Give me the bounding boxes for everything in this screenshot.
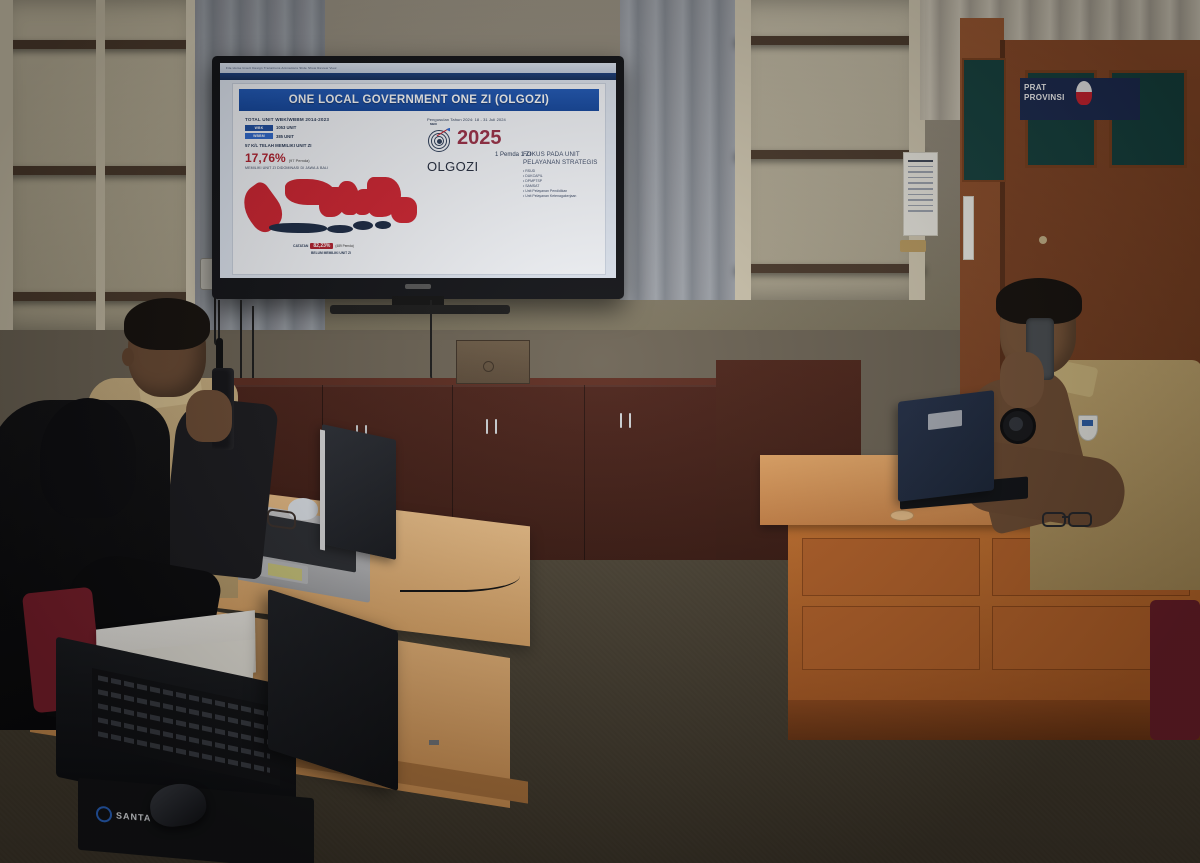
right-desk-base xyxy=(788,700,1200,740)
slide-canvas: ONE LOCAL GOVERNMENT ONE ZI (OLGOZI) TOT… xyxy=(232,83,606,275)
cardboard-box xyxy=(456,340,530,384)
mousepad-brand-text: SANTA xyxy=(116,810,151,823)
tv-stand-base xyxy=(330,305,510,314)
toolbar-menu-text: File Home Insert Design Transitions Anim… xyxy=(220,63,616,70)
target-year-row: MBO 2025 xyxy=(427,125,599,151)
total-unit-label: TOTAL UNIT WBK/WBBM 2014-2023 xyxy=(245,117,423,122)
mbo-tag: MBO xyxy=(430,122,437,126)
kl-label: 57 K/L TELAH MEMILIKI UNIT ZI xyxy=(245,143,423,148)
slide-right-column: Pengusulan Tahun 2024: 18 - 31 Juli 2024… xyxy=(427,117,599,174)
focus-block: FOKUS PADA UNIT PELAYANAN STRATEGIS RSUD… xyxy=(523,151,601,199)
focus-list: RSUD DUKCAPIL DPMPTSP SAMSAT Unit Pelaya… xyxy=(523,169,601,199)
chair-right xyxy=(1150,600,1200,740)
radio-antenna xyxy=(216,338,223,372)
emblem-icon xyxy=(1076,81,1092,105)
tv-brand-logo xyxy=(405,284,431,289)
slide-left-column: TOTAL UNIT WBK/WBBM 2014-2023 WBK 1053 U… xyxy=(245,117,423,170)
target-bullseye-icon: MBO xyxy=(427,125,453,151)
desk-cable xyxy=(400,560,520,592)
powerpoint-toolbar: File Home Insert Design Transitions Anim… xyxy=(220,63,616,73)
right-laptop-lid xyxy=(898,390,994,502)
desk-cable-grommet xyxy=(890,510,914,521)
legend-chip-wbk: WBK xyxy=(245,125,273,131)
indonesia-map-graphic xyxy=(241,171,421,245)
bookshelf-center xyxy=(735,0,925,300)
legend-chip-wbbm: WBBM xyxy=(245,133,273,139)
legend-row-wbk: WBK 1053 UNIT xyxy=(245,125,423,131)
radio-display xyxy=(429,740,439,745)
target-year: 2025 xyxy=(457,129,502,148)
left-man-ear xyxy=(122,348,134,366)
powerpoint-ribbon-bar xyxy=(220,73,616,80)
percent-value: 17,76% xyxy=(245,151,286,165)
legend-value-wbbm: 385 UNIT xyxy=(276,134,294,139)
footnote-label: CATATAN xyxy=(293,244,308,248)
cabinet-handle xyxy=(495,419,497,434)
banner-line-1: PRAT xyxy=(1024,83,1046,92)
mousepad-logo-icon xyxy=(96,806,112,823)
photo-scene: File Home Insert Design Transitions Anim… xyxy=(0,0,1200,863)
center-laptop-screen-edge xyxy=(320,429,325,550)
footnote-badge: 82,23% xyxy=(310,243,333,249)
bookshelf-left xyxy=(0,0,200,330)
footnote-subtext: BELUM MEMILIKI UNIT ZI xyxy=(311,251,351,255)
footnote-note: (489 Pemda) xyxy=(335,244,353,248)
small-wall-plate xyxy=(900,240,926,252)
percent-subtext: MEMILIKI UNIT ZI DIDOMINASI DI JAWA & BA… xyxy=(245,166,423,170)
focus-item: Unit Pelayanan Ketenagakerjaan xyxy=(523,194,601,199)
cabinet-handle xyxy=(629,413,631,428)
slide-title-text: ONE LOCAL GOVERNMENT ONE ZI (OLGOZI) xyxy=(289,94,549,106)
period-text: Pengusulan Tahun 2024: 18 - 31 Juli 2024 xyxy=(427,117,599,122)
woman-hijab-head xyxy=(40,398,136,518)
legend-value-wbk: 1053 UNIT xyxy=(276,125,296,130)
door-sidelite xyxy=(962,58,1006,182)
banner-line-2: PROVINSI xyxy=(1024,93,1065,102)
wall-banner: PRAT PROVINSI xyxy=(1020,78,1140,120)
left-man-hair xyxy=(124,298,210,350)
wristwatch xyxy=(1000,408,1036,444)
center-laptop-lid xyxy=(322,424,396,560)
wall-panel-center xyxy=(620,0,740,300)
focus-heading: FOKUS PADA UNIT PELAYANAN STRATEGIS xyxy=(523,151,601,167)
eyeglasses-right-desk xyxy=(1042,512,1092,524)
cabinet-handle xyxy=(486,419,488,434)
left-man-hand xyxy=(186,390,232,442)
right-man-hand xyxy=(1000,352,1044,408)
presentation-screen: File Home Insert Design Transitions Anim… xyxy=(220,63,616,278)
wall-notice-paper xyxy=(903,152,938,236)
percent-note: (97 Pemda) xyxy=(289,158,310,163)
legend-row-wbbm: WBBM 385 UNIT xyxy=(245,133,423,139)
vertical-label-strip xyxy=(963,196,974,260)
cabinet-handle xyxy=(620,413,622,428)
right-man-shoulder-badge xyxy=(1078,415,1098,441)
percent-stat: 17,76% (97 Pemda) xyxy=(245,151,423,165)
footnote-row: CATATAN 82,23% (489 Pemda) xyxy=(293,243,354,249)
slide-title-bar: ONE LOCAL GOVERNMENT ONE ZI (OLGOZI) xyxy=(239,89,599,111)
